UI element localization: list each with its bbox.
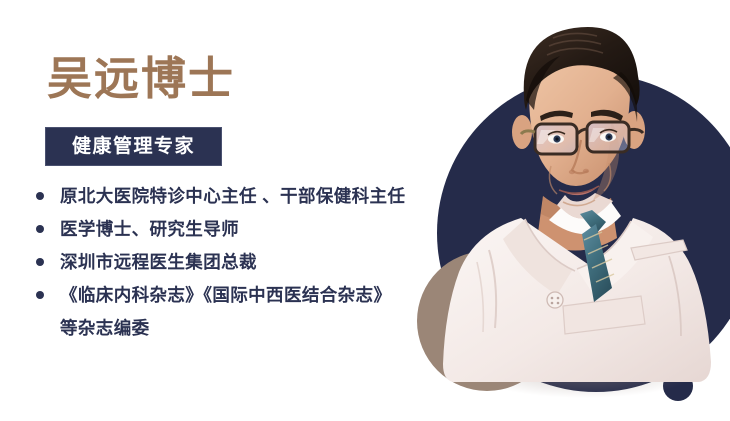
doctor-profile-banner: 吴远博士 健康管理专家 原北大医院特诊中心主任 、干部保健科主任 医学博士、研究… bbox=[0, 0, 730, 421]
list-item-continuation: 等杂志编委 bbox=[36, 315, 405, 341]
credential-label: 原北大医院特诊中心主任 、干部保健科主任 bbox=[60, 183, 405, 209]
list-item: 原北大医院特诊中心主任 、干部保健科主任 bbox=[36, 183, 405, 209]
credential-label: 《临床内科杂志》《国际中西医结合杂志》 bbox=[60, 282, 391, 308]
page-title: 吴远博士 bbox=[47, 56, 235, 101]
list-item: 《临床内科杂志》《国际中西医结合杂志》 bbox=[36, 282, 405, 308]
list-item: 医学博士、研究生导师 bbox=[36, 216, 405, 242]
credential-label: 等杂志编委 bbox=[60, 315, 150, 341]
status-badge-label: 健康管理专家 bbox=[72, 137, 195, 156]
bullet-icon-placeholder bbox=[36, 324, 44, 332]
list-item: 深圳市远程医生集团总裁 bbox=[36, 249, 405, 275]
credentials-list: 原北大医院特诊中心主任 、干部保健科主任 医学博士、研究生导师 深圳市远程医生集… bbox=[36, 183, 405, 348]
bullet-icon bbox=[36, 291, 44, 299]
credential-label: 深圳市远程医生集团总裁 bbox=[60, 249, 257, 275]
bullet-icon bbox=[36, 225, 44, 233]
credential-label: 医学博士、研究生导师 bbox=[60, 216, 239, 242]
bullet-icon bbox=[36, 192, 44, 200]
doctor-portrait bbox=[425, 0, 730, 400]
status-badge: 健康管理专家 bbox=[45, 127, 222, 166]
bullet-icon bbox=[36, 258, 44, 266]
text-column: 吴远博士 健康管理专家 原北大医院特诊中心主任 、干部保健科主任 医学博士、研究… bbox=[0, 0, 440, 421]
